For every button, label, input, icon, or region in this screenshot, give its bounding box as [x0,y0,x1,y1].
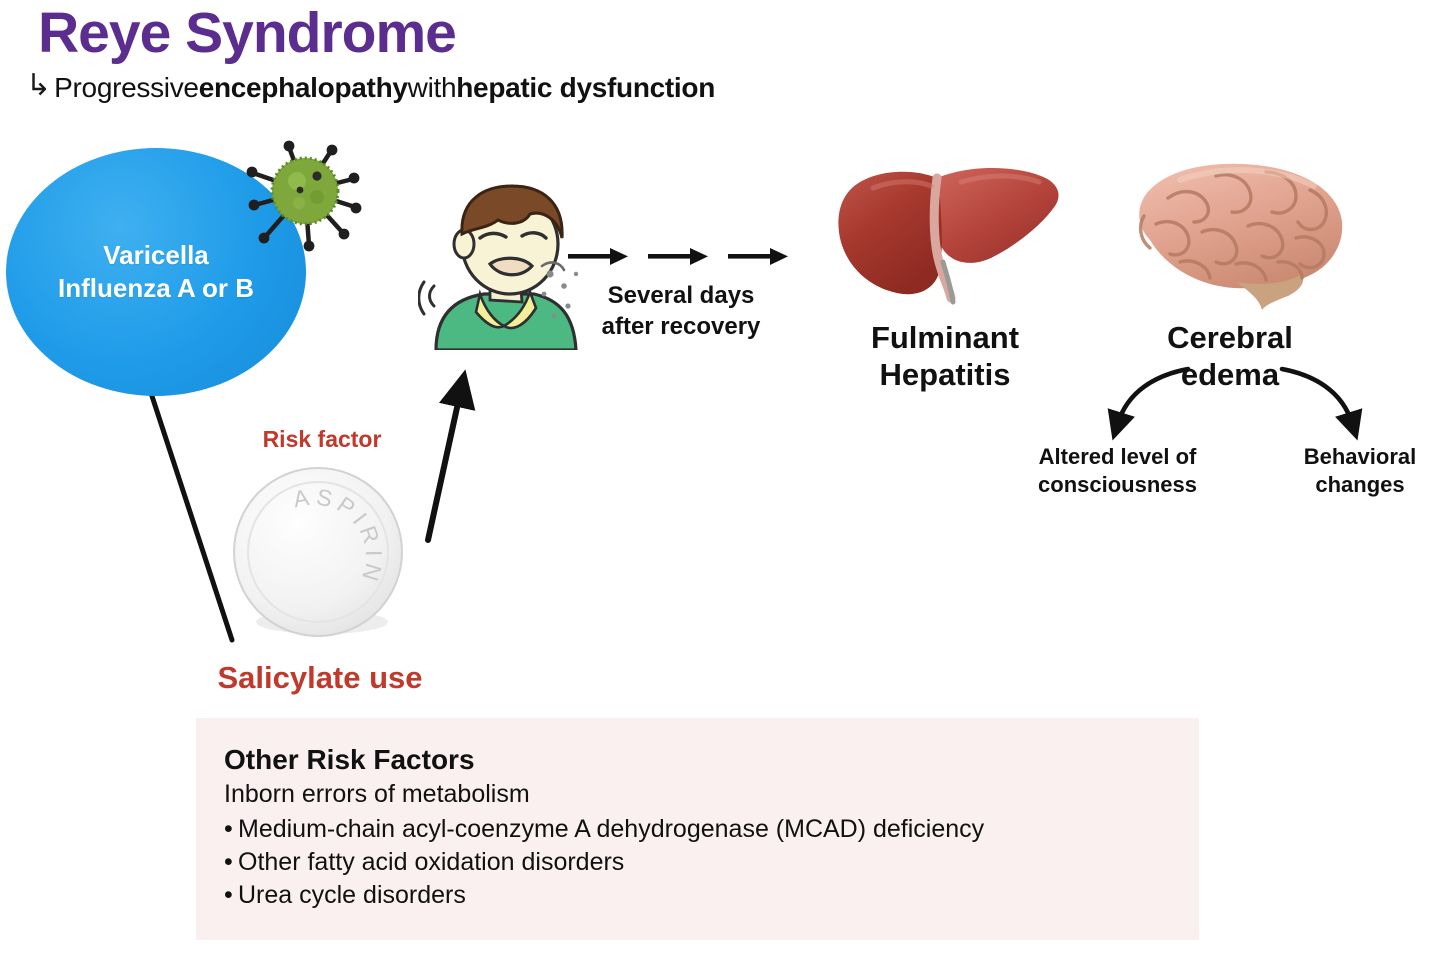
subtitle-part-4: hepatic dysfunction [456,72,715,104]
other-risk-factors-box: Other Risk Factors Inborn errors of meta… [196,718,1199,940]
consequence-2-line-2: changes [1280,471,1440,499]
risk-bullet-item: Other fatty acid oxidation disorders [224,846,1171,879]
liver-icon [833,162,1065,312]
coughing-child-icon [418,182,588,350]
brain-branch-arrows-icon [1070,365,1400,445]
subtitle-part-1: Progressive [54,72,199,104]
consequence-behavioral-changes: Behavioral changes [1280,443,1440,499]
aspirin-pill-icon: ASPIRIN [230,462,410,642]
diagram-canvas: Reye Syndrome ↳ Progressive encephalopat… [0,0,1440,964]
liver-label: Fulminant Hepatitis [800,320,1090,393]
timing-label: Several days after recovery [568,280,794,342]
other-risk-factors-subtitle: Inborn errors of metabolism [224,780,1171,809]
trigger-line-2: Influenza A or B [58,272,254,305]
risk-bullet-item: Medium-chain acyl-coenzyme A dehydrogena… [224,813,1171,846]
consequence-altered-consciousness: Altered level of consciousness [995,443,1240,499]
progression-arrows-icon [566,240,792,276]
other-risk-factors-title: Other Risk Factors [224,744,1171,776]
risk-factor-label: Risk factor [236,426,408,453]
consequence-1-line-2: consciousness [995,471,1240,499]
brain-icon [1110,158,1355,318]
consequence-1-line-1: Altered level of [995,443,1240,471]
risk-bullet-item: Urea cycle disorders [224,879,1171,912]
subtitle: ↳ Progressive encephalopathy with hepati… [26,72,715,104]
page-title: Reye Syndrome [38,4,456,64]
consequence-2-line-1: Behavioral [1280,443,1440,471]
brain-label-line-1: Cerebral [1095,320,1365,357]
subtitle-part-3: with [408,72,457,104]
virus-icon [243,133,367,257]
liver-label-line-1: Fulminant [800,320,1090,357]
subtitle-arrow-icon: ↳ [26,71,51,101]
salicylate-use-label: Salicylate use [185,660,455,696]
timing-line-1: Several days [568,280,794,311]
trigger-line-1: Varicella [103,239,209,272]
subtitle-part-2: encephalopathy [199,72,408,104]
liver-label-line-2: Hepatitis [800,357,1090,394]
timing-line-2: after recovery [568,311,794,342]
